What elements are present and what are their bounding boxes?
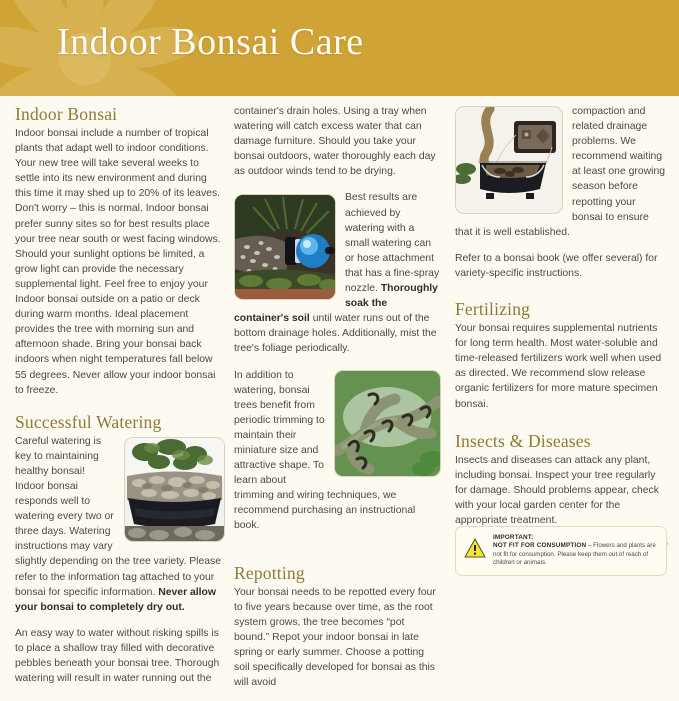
paragraph-watering-b: An easy way to water without risking spi… <box>15 626 225 686</box>
warning-triangle-icon <box>464 538 486 558</box>
empty-pot-drainage-photo <box>455 106 563 214</box>
paragraph-refer-book: Refer to a bonsai book (we offer several… <box>455 251 669 281</box>
column-three: compaction and related drainage problems… <box>455 104 669 580</box>
heading-successful-watering: Successful Watering <box>15 412 225 432</box>
paragraph-drain-holes: container's drain holes. Using a tray wh… <box>234 104 441 179</box>
content-area: Indoor Bonsai Indoor bonsai include a nu… <box>0 96 679 679</box>
heading-insects-diseases: Insects & Diseases <box>455 431 669 451</box>
paragraph-indoor-bonsai: Indoor bonsai include a number of tropic… <box>15 126 225 398</box>
paragraph-nozzle-a: Best results are achieved by watering wi… <box>345 192 439 294</box>
paragraph-insects-a: Insects and diseases can attack any plan… <box>455 453 669 528</box>
heading-indoor-bonsai: Indoor Bonsai <box>15 104 225 124</box>
wired-branches-photo <box>334 370 441 477</box>
page-root: Indoor Bonsai Care Indoor Bonsai Indoor … <box>0 0 679 679</box>
paragraph-fertilizing: Your bonsai requires supplemental nutrie… <box>455 321 669 412</box>
warning-line-1: IMPORTANT: <box>493 534 533 541</box>
heading-repotting: Repotting <box>234 563 441 583</box>
page-header: Indoor Bonsai Care <box>0 0 679 96</box>
heading-fertilizing: Fertilizing <box>455 299 669 319</box>
page-title: Indoor Bonsai Care <box>57 20 364 64</box>
paragraph-repotting: Your bonsai needs to be repotted every f… <box>234 585 441 691</box>
bonsai-in-pot-photo <box>124 437 225 542</box>
warning-text: IMPORTANT: NOT FIT FOR CONSUMPTION – Flo… <box>493 534 658 568</box>
column-two: container's drain holes. Using a tray wh… <box>234 104 441 701</box>
column-one: Indoor Bonsai Indoor bonsai include a nu… <box>15 104 225 697</box>
hose-nozzle-spray-photo <box>234 194 336 300</box>
warning-box: IMPORTANT: NOT FIT FOR CONSUMPTION – Flo… <box>455 526 667 576</box>
warning-line-2-bold: NOT FIT FOR CONSUMPTION <box>493 542 586 549</box>
